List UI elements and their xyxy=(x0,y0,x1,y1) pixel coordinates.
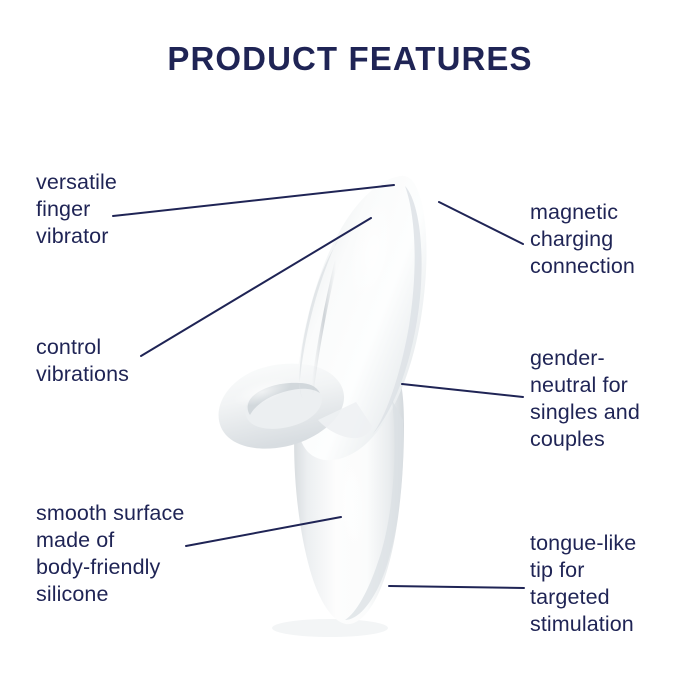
callout-line: singles and xyxy=(530,399,640,426)
callout-line: couples xyxy=(530,426,640,453)
product-features-infographic: PRODUCT FEATURES versatile finger vibrat… xyxy=(0,0,700,700)
callout-label-magnetic-charging-connection: magnetic charging connection xyxy=(530,199,635,280)
callout-line: finger xyxy=(36,196,117,223)
callout-line: targeted xyxy=(530,584,636,611)
callout-line: connection xyxy=(530,253,635,280)
callout-line: tip for xyxy=(530,557,636,584)
page-title: PRODUCT FEATURES xyxy=(0,42,700,75)
callout-label-versatile-finger-vibrator: versatile finger vibrator xyxy=(36,169,117,250)
callout-line: charging xyxy=(530,226,635,253)
callout-label-control-vibrations: control vibrations xyxy=(36,334,129,388)
callout-line: vibrator xyxy=(36,223,117,250)
callout-line: versatile xyxy=(36,169,117,196)
callout-line: vibrations xyxy=(36,361,129,388)
callout-line: magnetic xyxy=(530,199,635,226)
callout-label-smooth-surface-silicone: smooth surface made of body-friendly sil… xyxy=(36,500,184,608)
callout-line: silicone xyxy=(36,581,184,608)
callout-line: gender- xyxy=(530,345,640,372)
callout-label-gender-neutral: gender- neutral for singles and couples xyxy=(530,345,640,453)
callout-line: made of xyxy=(36,527,184,554)
callout-line: stimulation xyxy=(530,611,636,638)
callout-line: body-friendly xyxy=(36,554,184,581)
callout-line: smooth surface xyxy=(36,500,184,527)
callout-label-tongue-like-tip: tongue-like tip for targeted stimulation xyxy=(530,530,636,638)
callout-line: neutral for xyxy=(530,372,640,399)
product-shadow xyxy=(272,619,388,637)
callout-line: tongue-like xyxy=(530,530,636,557)
callout-line: control xyxy=(36,334,129,361)
